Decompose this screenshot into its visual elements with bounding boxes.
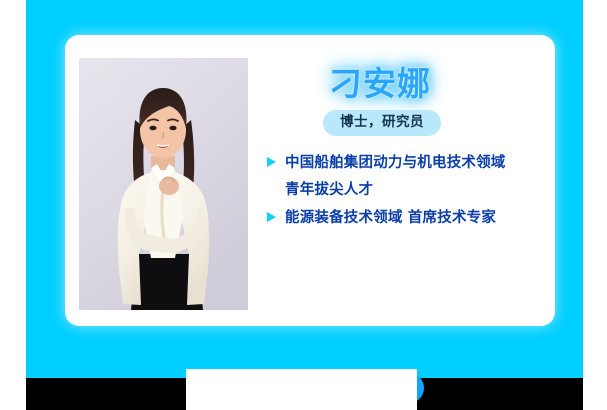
blank-bullet-spacer — [267, 184, 281, 194]
profile-card: 刁安娜 博士，研究员 中国船舶集团动力与机电技术领域 青年拔尖人才 能源装备技术… — [65, 35, 555, 326]
bottom-overlay-strip — [186, 369, 424, 410]
white-cover-shape — [186, 369, 417, 410]
list-item: 青年拔尖人才 — [267, 179, 543, 202]
triangle-bullet-icon — [267, 157, 281, 167]
portrait-photo — [79, 58, 248, 310]
credential-text: 中国船舶集团动力与机电技术领域 — [285, 152, 506, 175]
credential-badge: 博士，研究员 — [323, 110, 441, 136]
profile-info: 刁安娜 博士，研究员 中国船舶集团动力与机电技术领域 青年拔尖人才 能源装备技术… — [265, 61, 543, 316]
credential-text: 能源装备技术领域 首席技术专家 — [285, 207, 496, 230]
badge-row: 博士，研究员 — [323, 110, 543, 136]
list-item: 能源装备技术领域 首席技术专家 — [267, 207, 543, 230]
credential-text: 青年拔尖人才 — [285, 179, 373, 202]
list-item: 中国船舶集团动力与机电技术领域 — [267, 152, 543, 175]
screenshot-stage: 刁安娜 博士，研究员 中国船舶集团动力与机电技术领域 青年拔尖人才 能源装备技术… — [0, 0, 607, 410]
triangle-bullet-icon — [267, 212, 281, 222]
credential-list: 中国船舶集团动力与机电技术领域 青年拔尖人才 能源装备技术领域 首席技术专家 — [267, 152, 543, 230]
person-name: 刁安娜 — [329, 67, 543, 100]
